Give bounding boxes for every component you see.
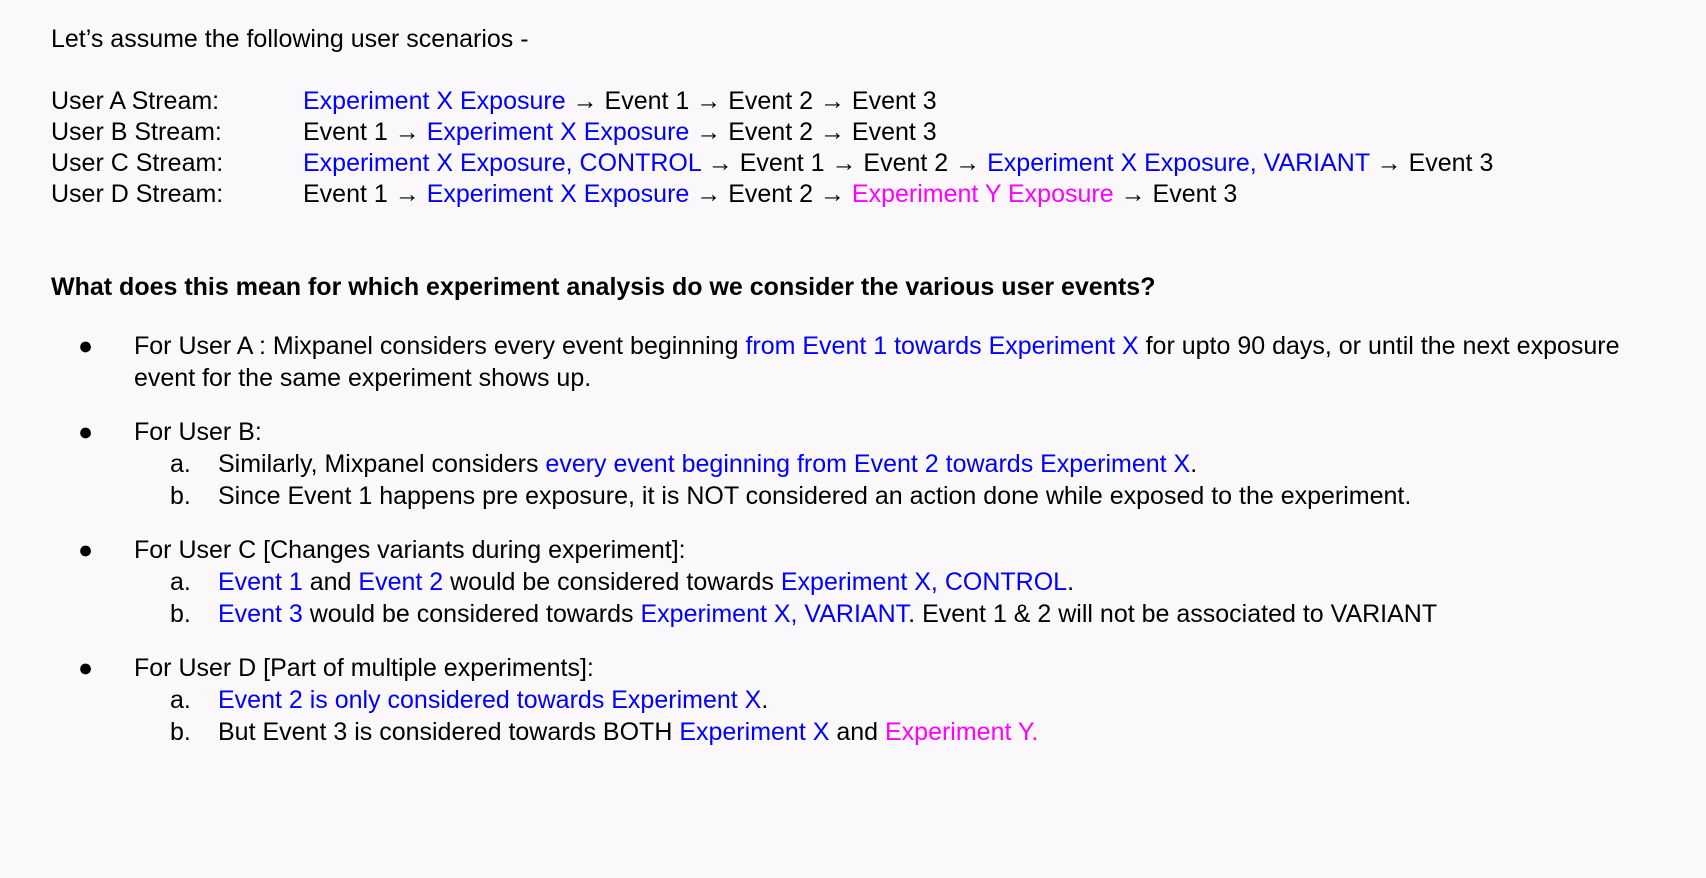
intro-paragraph: Let’s assume the following user scenario… (51, 24, 529, 55)
bullet-block-user-a: ● For User A : Mixpanel considers every … (0, 330, 1706, 394)
stream-label: User C Stream: (51, 148, 303, 179)
user-stream-list: User A Stream: Experiment X Exposure → E… (51, 86, 1493, 210)
text-run-plain: Event 2 (728, 87, 813, 115)
text-run-plain: → (388, 118, 427, 146)
stream-sequence: Event 1 → Experiment X Exposure → Event … (303, 117, 937, 148)
sub-list-marker: b. (170, 716, 210, 748)
text-run-plain: → (813, 180, 852, 208)
text-run-plain: would be considered towards (303, 600, 641, 628)
text-run-plain: and (303, 568, 359, 596)
text-run-blue: Event 2 is only considered towards Exper… (218, 686, 761, 714)
stream-label: User A Stream: (51, 86, 303, 117)
text-run-plain: → (1370, 149, 1409, 177)
bullet-block-user-c: ● For User C [Changes variants during ex… (0, 534, 1706, 630)
sub-list-item: b. Event 3 would be considered towards E… (0, 598, 1706, 630)
text-run-plain: → (388, 180, 427, 208)
text-run-plain: For User A : Mixpanel considers every ev… (134, 332, 745, 360)
stream-sequence: Event 1 → Experiment X Exposure → Event … (303, 179, 1237, 210)
bullet-block-user-d: ● For User D [Part of multiple experimen… (0, 652, 1706, 748)
bullet-text: For User C [Changes variants during expe… (134, 534, 1646, 566)
text-run-plain: and (829, 718, 885, 746)
sub-list-marker: a. (170, 684, 210, 716)
bullet-text: For User A : Mixpanel considers every ev… (134, 330, 1646, 394)
user-stream-row-b: User B Stream: Event 1 → Experiment X Ex… (51, 117, 1493, 148)
text-run-plain: → (813, 87, 852, 115)
sub-list-marker: b. (170, 598, 210, 630)
text-run-plain: Event 3 (1409, 149, 1494, 177)
sub-list-text: Event 3 would be considered towards Expe… (218, 600, 1437, 628)
bullet-text: For User B: (134, 416, 1646, 448)
stream-sequence: Experiment X Exposure, CONTROL → Event 1… (303, 148, 1493, 179)
bullet-item: ● For User C [Changes variants during ex… (0, 534, 1706, 566)
text-run-plain: → (813, 118, 852, 146)
sub-list-text: But Event 3 is considered towards BOTH E… (218, 718, 1038, 746)
bullet-item: ● For User D [Part of multiple experimen… (0, 652, 1706, 684)
text-run-blue: Event 2 (358, 568, 443, 596)
text-run-blue: Experiment X, CONTROL (781, 568, 1067, 596)
sub-list-marker: a. (170, 448, 210, 480)
sub-list-text: Since Event 1 happens pre exposure, it i… (218, 482, 1411, 510)
text-run-blue: Event 3 (218, 600, 303, 628)
bullet-block-user-b: ● For User B: a. Similarly, Mixpanel con… (0, 416, 1706, 512)
text-run-plain: . (1190, 450, 1197, 478)
text-run-blue: Experiment X, VARIANT (640, 600, 908, 628)
sub-list-item: b. Since Event 1 happens pre exposure, i… (0, 480, 1706, 512)
text-run-blue: Event 1 (218, 568, 303, 596)
text-run-blue: Experiment X Exposure (427, 180, 690, 208)
sub-list-item: a. Similarly, Mixpanel considers every e… (0, 448, 1706, 480)
text-run-plain: → (689, 180, 728, 208)
text-run-blue: Experiment X (679, 718, 829, 746)
document-page: Let’s assume the following user scenario… (0, 0, 1706, 878)
bullet-text: For User D [Part of multiple experiments… (134, 652, 1646, 684)
sub-list: a. Event 2 is only considered towards Ex… (0, 684, 1706, 748)
stream-label: User B Stream: (51, 117, 303, 148)
text-run-plain: → (689, 87, 728, 115)
text-run-plain: Event 2 (863, 149, 948, 177)
text-run-plain: → (689, 118, 728, 146)
question-heading: What does this mean for which experiment… (51, 272, 1155, 303)
sub-list-item: a. Event 2 is only considered towards Ex… (0, 684, 1706, 716)
sub-list-text: Event 1 and Event 2 would be considered … (218, 568, 1074, 596)
text-run-plain: For User D [Part of multiple experiments… (134, 654, 594, 682)
stream-label: User D Stream: (51, 179, 303, 210)
bullet-dot-icon: ● (78, 534, 92, 566)
user-stream-row-a: User A Stream: Experiment X Exposure → E… (51, 86, 1493, 117)
text-run-blue: from Event 1 towards Experiment X (745, 332, 1138, 360)
text-run-plain: Event 1 (605, 87, 690, 115)
text-run-plain: Event 2 (728, 118, 813, 146)
text-run-plain: Event 3 (852, 118, 937, 146)
text-run-plain: . (1067, 568, 1074, 596)
text-run-magenta: Experiment Y. (885, 718, 1038, 746)
text-run-blue: Experiment X Exposure (303, 87, 566, 115)
bullet-dot-icon: ● (78, 652, 92, 684)
text-run-plain: Event 3 (1153, 180, 1238, 208)
explanation-bullet-list: ● For User A : Mixpanel considers every … (0, 330, 1706, 770)
text-run-plain: Event 1 (303, 118, 388, 146)
text-run-plain: Event 1 (740, 149, 825, 177)
text-run-plain: Event 3 (852, 87, 937, 115)
text-run-plain: → (825, 149, 864, 177)
text-run-plain: Similarly, Mixpanel considers (218, 450, 545, 478)
sub-list-item: a. Event 1 and Event 2 would be consider… (0, 566, 1706, 598)
user-stream-row-d: User D Stream: Event 1 → Experiment X Ex… (51, 179, 1493, 210)
text-run-blue: Experiment X Exposure (427, 118, 690, 146)
bullet-item: ● For User A : Mixpanel considers every … (0, 330, 1706, 394)
sub-list-marker: b. (170, 480, 210, 512)
text-run-blue: Experiment X Exposure, VARIANT (987, 149, 1370, 177)
user-stream-row-c: User C Stream: Experiment X Exposure, CO… (51, 148, 1493, 179)
bullet-dot-icon: ● (78, 416, 92, 448)
text-run-plain: But Event 3 is considered towards BOTH (218, 718, 679, 746)
text-run-plain: . (761, 686, 768, 714)
text-run-plain: would be considered towards (443, 568, 781, 596)
text-run-blue: Experiment X Exposure, CONTROL (303, 149, 701, 177)
bullet-dot-icon: ● (78, 330, 92, 362)
text-run-plain: → (1114, 180, 1153, 208)
text-run-plain: → (948, 149, 987, 177)
sub-list-item: b. But Event 3 is considered towards BOT… (0, 716, 1706, 748)
stream-sequence: Experiment X Exposure → Event 1 → Event … (303, 86, 937, 117)
text-run-plain: Since Event 1 happens pre exposure, it i… (218, 482, 1411, 510)
text-run-plain: For User C [Changes variants during expe… (134, 536, 686, 564)
text-run-plain: → (566, 87, 605, 115)
text-run-blue: every event beginning from Event 2 towar… (545, 450, 1190, 478)
bullet-item: ● For User B: (0, 416, 1706, 448)
text-run-magenta: Experiment Y Exposure (852, 180, 1114, 208)
sub-list: a. Similarly, Mixpanel considers every e… (0, 448, 1706, 512)
text-run-plain: . Event 1 & 2 will not be associated to … (908, 600, 1437, 628)
text-run-plain: Event 1 (303, 180, 388, 208)
text-run-plain: → (701, 149, 740, 177)
sub-list-text: Event 2 is only considered towards Exper… (218, 686, 768, 714)
sub-list: a. Event 1 and Event 2 would be consider… (0, 566, 1706, 630)
sub-list-text: Similarly, Mixpanel considers every even… (218, 450, 1197, 478)
text-run-plain: For User B: (134, 418, 262, 446)
sub-list-marker: a. (170, 566, 210, 598)
text-run-plain: Event 2 (728, 180, 813, 208)
